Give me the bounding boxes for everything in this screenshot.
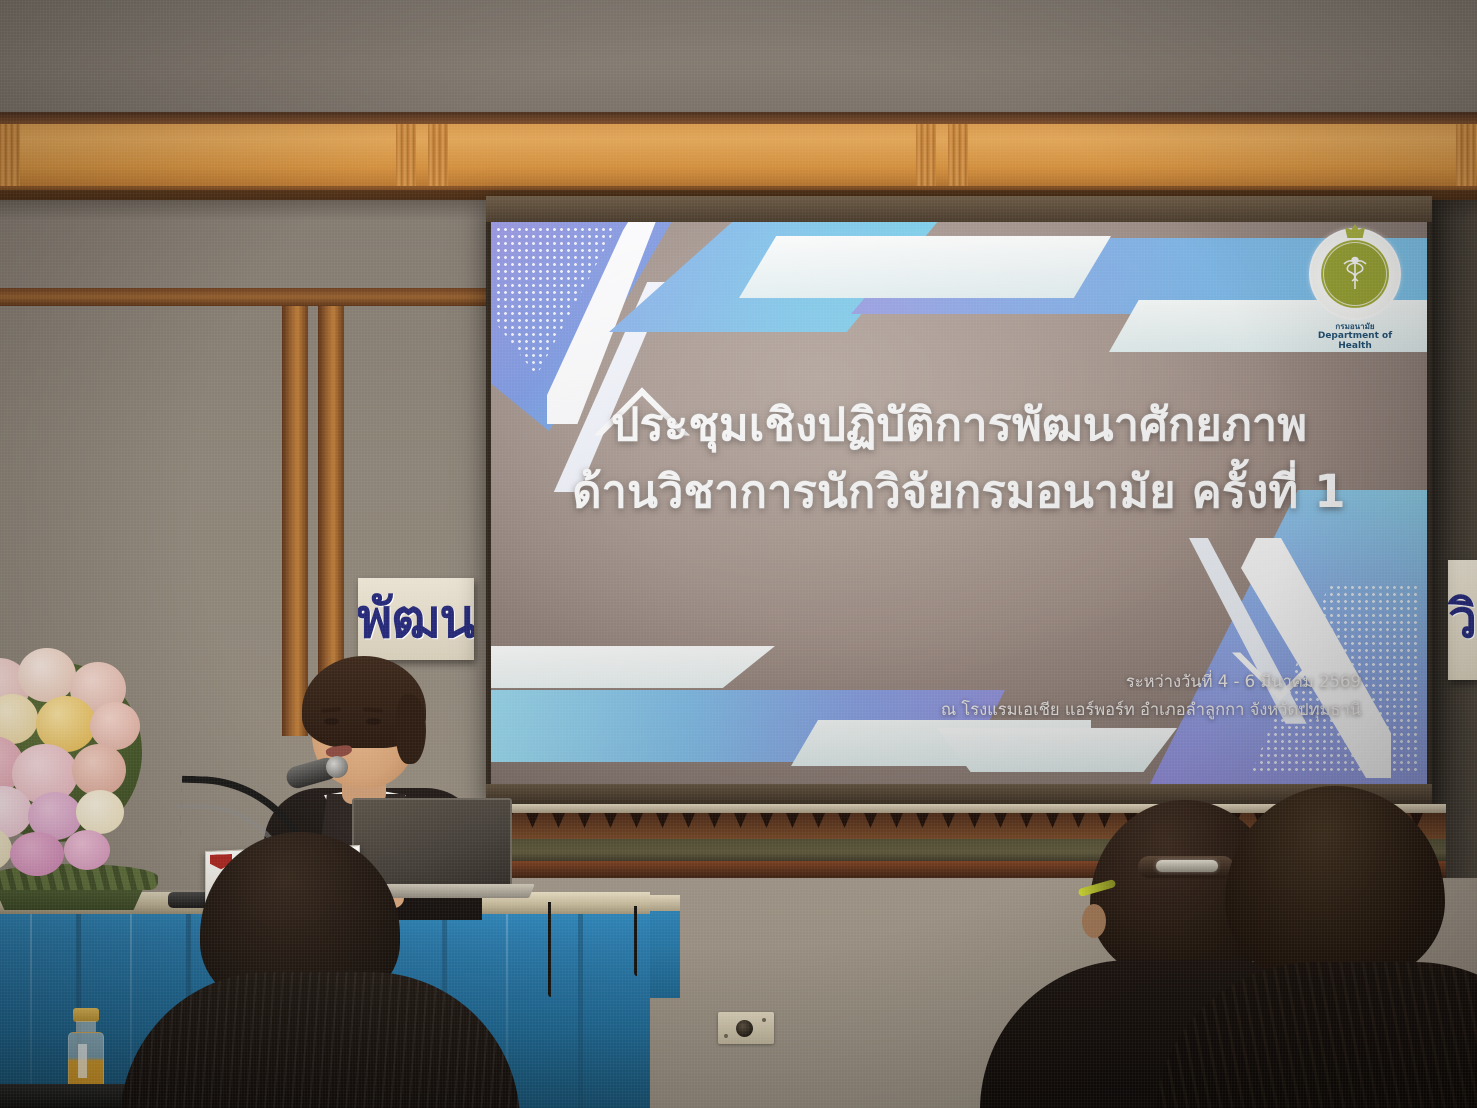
speaker-eye-right bbox=[366, 718, 381, 725]
slide-subtitle-dates: ระหว่างวันที่ 4 - 6 มีนาคม 2569 bbox=[941, 668, 1361, 696]
bottle-cap bbox=[73, 1008, 99, 1022]
wall-sign-left: พัฒน bbox=[358, 578, 474, 660]
conference-room-photo: พัฒน วิ bbox=[0, 0, 1477, 1108]
slide-deco-top-white-parallelogram bbox=[739, 236, 1111, 298]
logo-caption-english: Department of Health bbox=[1301, 332, 1409, 352]
slide-deco-bottom-white-band bbox=[491, 646, 775, 688]
wall-sign-right: วิ bbox=[1448, 560, 1477, 680]
wall-sign-left-text: พัฒน bbox=[358, 578, 474, 660]
crown-icon bbox=[1345, 224, 1365, 238]
cable-2 bbox=[634, 906, 637, 976]
speaker-eye-left bbox=[324, 718, 339, 725]
audience-member-left bbox=[140, 832, 490, 1108]
projection-screen: กรมอนามัย Department of Health ประชุมเชิ… bbox=[486, 196, 1432, 804]
wall-sign-right-text: วิ bbox=[1448, 560, 1477, 680]
ministry-emblem-icon bbox=[1309, 228, 1401, 320]
right-wall-recess bbox=[1430, 118, 1477, 878]
wood-valance-beam bbox=[0, 112, 1477, 200]
presentation-slide: กรมอนามัย Department of Health ประชุมเชิ… bbox=[491, 222, 1427, 784]
slide-subtitle: ระหว่างวันที่ 4 - 6 มีนาคม 2569 ณ โรงแรม… bbox=[941, 668, 1361, 724]
left-wall-trim bbox=[0, 288, 500, 306]
slide-subtitle-venue: ณ โรงแรมเอเชีย แอร์พอร์ท อำเภอลำลูกกา จั… bbox=[941, 696, 1361, 724]
wall-av-port-plate bbox=[718, 1012, 774, 1044]
slide-title-line1: ประชุมเชิงปฏิบัติการพัฒนาศักยภาพ bbox=[533, 392, 1385, 459]
bottle-label bbox=[78, 1044, 87, 1078]
audience-member-right bbox=[1185, 786, 1477, 1108]
ceiling-wall-upper bbox=[0, 0, 1477, 118]
av-port-icon bbox=[736, 1020, 753, 1037]
department-of-health-logo: กรมอนามัย Department of Health bbox=[1301, 228, 1409, 356]
slide-deco-bottomright-white-parallelogram bbox=[937, 728, 1177, 772]
slide-title-line2: ด้านวิชาการนักวิจัยกรมอนามัย ครั้งที่ 1 bbox=[533, 459, 1385, 526]
microphone-capsule-icon bbox=[326, 756, 348, 778]
caduceus-icon bbox=[1323, 242, 1387, 306]
slide-title: ประชุมเชิงปฏิบัติการพัฒนาศักยภาพ ด้านวิช… bbox=[491, 392, 1427, 525]
audience-head-right bbox=[1225, 786, 1445, 986]
audience-ear bbox=[1082, 904, 1106, 938]
cable-1 bbox=[548, 902, 551, 997]
screen-top-bar bbox=[486, 196, 1432, 222]
